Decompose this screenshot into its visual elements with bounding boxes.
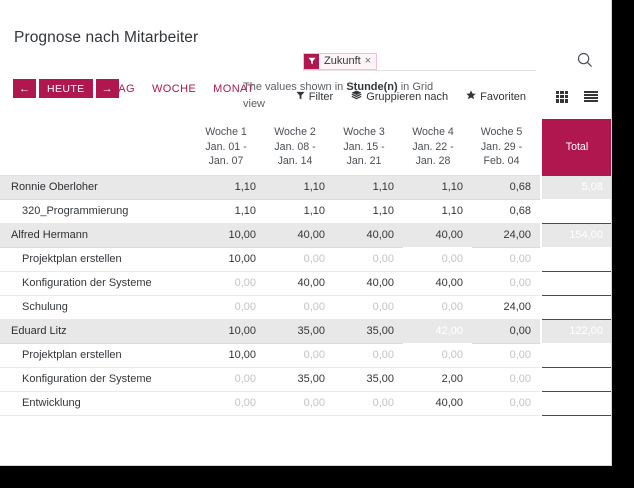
week-2-from: Jan. 08 - [265, 140, 325, 155]
cell-week-1[interactable]: 10,00 [196, 223, 265, 247]
cell-week-2[interactable]: 40,00 [265, 271, 334, 295]
cell-week-4[interactable]: 0,00 [403, 295, 472, 319]
week-1-to: Jan. 07 [196, 154, 256, 169]
cell-week-2[interactable]: 0,00 [265, 391, 334, 415]
week-4-to: Jan. 28 [403, 154, 463, 169]
cell-week-2[interactable]: 40,00 [265, 223, 334, 247]
table-row[interactable]: Entwicklung0,000,000,0040,000,0040,00 [0, 391, 612, 415]
cell-week-3[interactable]: 0,00 [334, 247, 403, 271]
week-3-from: Jan. 15 - [334, 140, 394, 155]
column-header-week-5: Woche 5 Jan. 29 - Feb. 04 [472, 119, 541, 175]
week-3-to: Jan. 21 [334, 154, 394, 169]
cell-week-3[interactable]: 0,00 [334, 295, 403, 319]
cell-week-3[interactable]: 1,10 [334, 199, 403, 223]
favorites-button[interactable]: Favoriten [466, 90, 526, 103]
grid-view-icon[interactable] [556, 91, 568, 103]
cell-total: 5,08 [541, 199, 612, 223]
cell-week-4[interactable]: 1,10 [403, 175, 472, 199]
cell-week-5[interactable]: 24,00 [472, 223, 541, 247]
granularity-woche[interactable]: WOCHE [152, 83, 196, 95]
star-icon [466, 90, 476, 103]
period-nav: ← HEUTE → [13, 79, 119, 98]
table-body: Ronnie Oberloher1,101,101,101,100,685,08… [0, 175, 612, 415]
row-label: Projektplan erstellen [0, 247, 196, 271]
layers-icon [351, 90, 362, 103]
cell-total: 10,00 [541, 247, 612, 271]
cell-week-2[interactable]: 35,00 [265, 367, 334, 391]
cell-week-2[interactable]: 0,00 [265, 343, 334, 367]
cell-week-4[interactable]: 40,00 [403, 271, 472, 295]
table-row[interactable]: Schulung0,000,000,000,0024,0024,00 [0, 295, 612, 319]
cell-week-5[interactable]: 0,00 [472, 391, 541, 415]
filter-chip-zukunft[interactable]: Zukunft × [303, 53, 377, 70]
cell-week-3[interactable]: 0,00 [334, 343, 403, 367]
report-card: Prognose nach Mitarbeiter Zukunft × [0, 0, 612, 466]
app-root: Prognose nach Mitarbeiter Zukunft × [0, 0, 634, 488]
favorites-label: Favoriten [480, 91, 526, 103]
row-label: 320_Programmierung [0, 199, 196, 223]
group-by-button[interactable]: Gruppieren nach [351, 90, 448, 103]
cell-total: 24,00 [541, 295, 612, 319]
table-group-row[interactable]: Alfred Hermann10,0040,0040,0040,0024,001… [0, 223, 612, 247]
table-row[interactable]: 320_Programmierung1,101,101,101,100,685,… [0, 199, 612, 223]
week-4-from: Jan. 22 - [403, 140, 463, 155]
column-header-name [0, 119, 196, 175]
row-label: Konfiguration der Systeme [0, 271, 196, 295]
column-header-week-3: Woche 3 Jan. 15 - Jan. 21 [334, 119, 403, 175]
cell-week-1[interactable]: 0,00 [196, 367, 265, 391]
cell-week-3[interactable]: 40,00 [334, 223, 403, 247]
cell-week-4[interactable]: 42,00 [403, 319, 472, 343]
week-2-label: Woche 2 [265, 125, 325, 140]
cell-week-4[interactable]: 0,00 [403, 343, 472, 367]
list-view-icon[interactable] [584, 91, 598, 103]
toolbar: ← HEUTE → TAG WOCHE MONAT The values sho… [0, 76, 612, 119]
cell-week-2[interactable]: 1,10 [265, 199, 334, 223]
cell-week-2[interactable]: 1,10 [265, 175, 334, 199]
toolbar-actions: Filter Gruppieren nach [296, 90, 598, 103]
row-label: Eduard Litz [0, 319, 196, 343]
cell-week-1[interactable]: 1,10 [196, 175, 265, 199]
filter-button-label: Filter [309, 91, 333, 103]
cell-week-5[interactable]: 24,00 [472, 295, 541, 319]
cell-week-5[interactable]: 0,68 [472, 175, 541, 199]
week-2-to: Jan. 14 [265, 154, 325, 169]
table-row[interactable]: Konfiguration der Systeme0,0040,0040,004… [0, 271, 612, 295]
week-1-from: Jan. 01 - [196, 140, 256, 155]
page-header: Prognose nach Mitarbeiter Zukunft × [0, 0, 611, 76]
view-switch [556, 91, 598, 103]
cell-week-4[interactable]: 40,00 [403, 223, 472, 247]
cell-total: 154,00 [541, 223, 612, 247]
cell-total: 120,00 [541, 271, 612, 295]
cell-week-1[interactable]: 0,00 [196, 271, 265, 295]
table-row[interactable]: Projektplan erstellen10,000,000,000,000,… [0, 343, 612, 367]
column-header-week-4: Woche 4 Jan. 22 - Jan. 28 [403, 119, 472, 175]
cell-total: 72,00 [541, 367, 612, 391]
row-label: Entwicklung [0, 391, 196, 415]
cell-week-2[interactable]: 0,00 [265, 295, 334, 319]
granularity-tag[interactable]: TAG [112, 83, 135, 95]
page-title: Prognose nach Mitarbeiter [14, 29, 198, 47]
cell-week-3[interactable]: 0,00 [334, 391, 403, 415]
table-group-row[interactable]: Eduard Litz10,0035,0035,0042,000,00122,0… [0, 319, 612, 343]
header-row: Woche 1 Jan. 01 - Jan. 07 Woche 2 Jan. 0… [0, 119, 612, 175]
cell-week-1[interactable]: 10,00 [196, 343, 265, 367]
table-header: Woche 1 Jan. 01 - Jan. 07 Woche 2 Jan. 0… [0, 119, 612, 175]
granularity-switch: TAG WOCHE MONAT [112, 79, 254, 98]
column-header-week-1: Woche 1 Jan. 01 - Jan. 07 [196, 119, 265, 175]
table-row[interactable]: Konfiguration der Systeme0,0035,0035,002… [0, 367, 612, 391]
row-label: Alfred Hermann [0, 223, 196, 247]
cell-week-5[interactable]: 0,00 [472, 319, 541, 343]
row-label: Schulung [0, 295, 196, 319]
cell-week-5[interactable]: 0,00 [472, 271, 541, 295]
forecast-table: Woche 1 Jan. 01 - Jan. 07 Woche 2 Jan. 0… [0, 119, 612, 416]
cell-week-1[interactable]: 10,00 [196, 319, 265, 343]
cell-week-3[interactable]: 40,00 [334, 271, 403, 295]
cell-week-1[interactable]: 1,10 [196, 199, 265, 223]
cell-week-4[interactable]: 0,00 [403, 247, 472, 271]
cell-week-3[interactable]: 35,00 [334, 367, 403, 391]
cell-week-4[interactable]: 2,00 [403, 367, 472, 391]
table-row[interactable]: Projektplan erstellen10,000,000,000,000,… [0, 247, 612, 271]
cell-week-5[interactable]: 0,00 [472, 367, 541, 391]
filter-funnel-icon [304, 54, 319, 69]
cell-week-1[interactable]: 0,00 [196, 391, 265, 415]
filter-button[interactable]: Filter [296, 91, 333, 103]
cell-week-1[interactable]: 0,00 [196, 295, 265, 319]
filter-icon [296, 91, 305, 103]
row-label: Projektplan erstellen [0, 343, 196, 367]
cell-total: 122,00 [541, 319, 612, 343]
row-label: Ronnie Oberloher [0, 175, 196, 199]
column-header-total: Total [541, 119, 612, 175]
table-group-row[interactable]: Ronnie Oberloher1,101,101,101,100,685,08 [0, 175, 612, 199]
row-label: Konfiguration der Systeme [0, 367, 196, 391]
cell-week-5[interactable]: 0,68 [472, 199, 541, 223]
search-icon[interactable] [576, 51, 594, 69]
cell-week-4[interactable]: 1,10 [403, 199, 472, 223]
cell-week-5[interactable]: 0,00 [472, 247, 541, 271]
cell-total: 5,08 [541, 175, 612, 199]
group-by-label: Gruppieren nach [366, 91, 448, 103]
cell-week-1[interactable]: 10,00 [196, 247, 265, 271]
cell-week-2[interactable]: 35,00 [265, 319, 334, 343]
cell-total: 40,00 [541, 391, 612, 415]
week-1-label: Woche 1 [196, 125, 256, 140]
cell-week-4[interactable]: 40,00 [403, 391, 472, 415]
filter-chip-remove-icon[interactable]: × [365, 54, 376, 69]
column-header-week-2: Woche 2 Jan. 08 - Jan. 14 [265, 119, 334, 175]
week-5-from: Jan. 29 - [472, 140, 531, 155]
week-5-label: Woche 5 [472, 125, 531, 140]
today-button[interactable]: HEUTE [39, 79, 93, 98]
filter-bar[interactable]: Zukunft × [303, 52, 536, 71]
week-5-to: Feb. 04 [472, 154, 531, 169]
week-3-label: Woche 3 [334, 125, 394, 140]
cell-week-3[interactable]: 35,00 [334, 319, 403, 343]
cell-total: 10,00 [541, 343, 612, 367]
cell-week-2[interactable]: 0,00 [265, 247, 334, 271]
cell-week-5[interactable]: 0,00 [472, 343, 541, 367]
week-4-label: Woche 4 [403, 125, 463, 140]
filter-chip-label: Zukunft [319, 54, 365, 69]
cell-week-3[interactable]: 1,10 [334, 175, 403, 199]
previous-period-button[interactable]: ← [13, 79, 36, 98]
